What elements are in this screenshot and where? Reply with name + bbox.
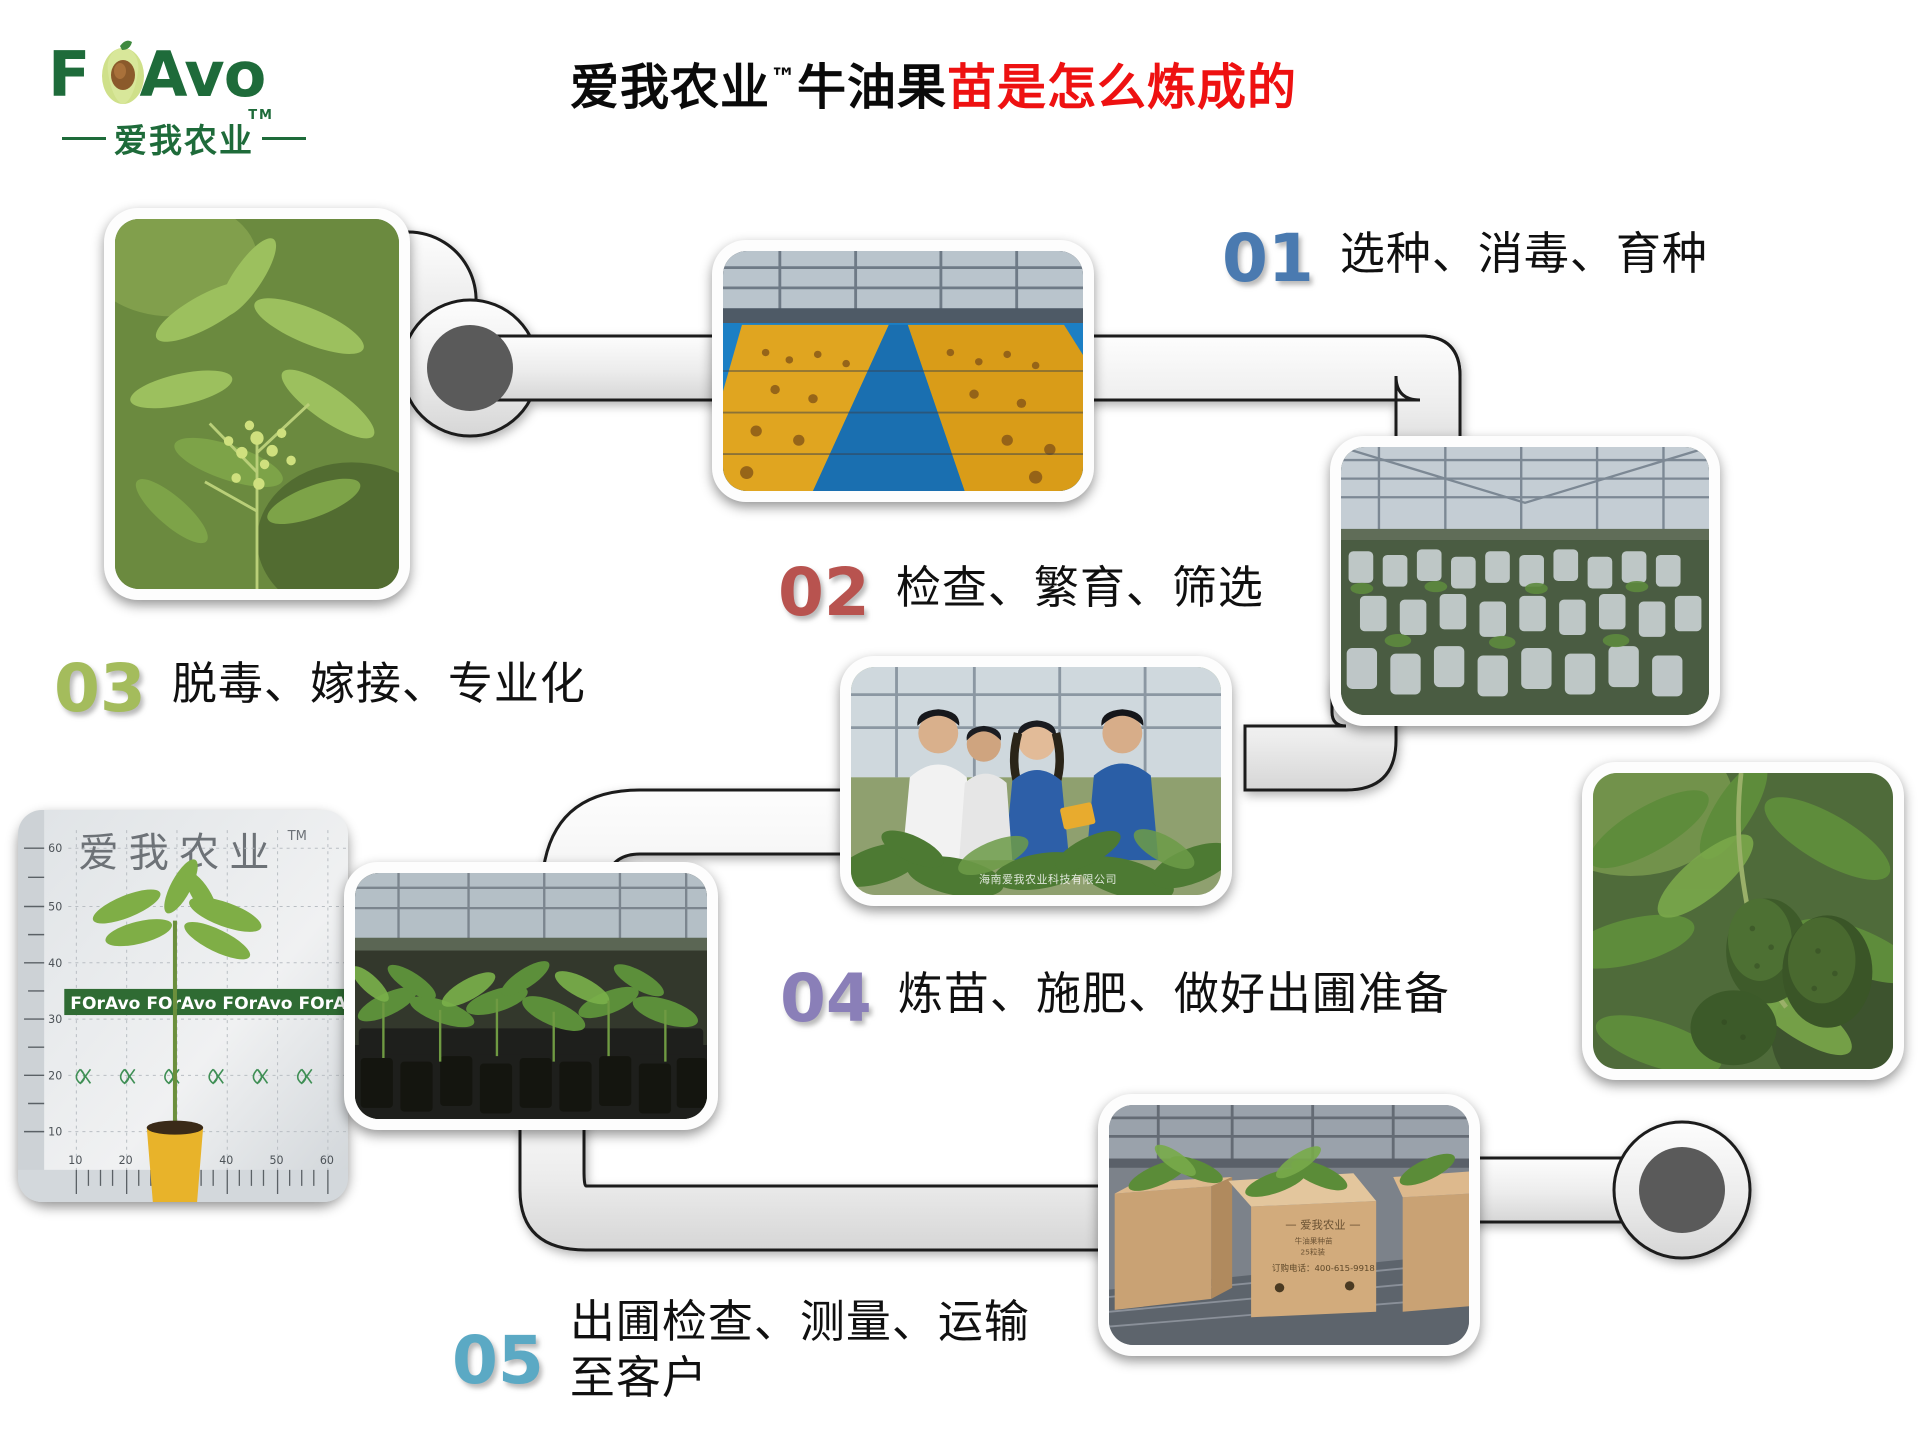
title-red: 苗是怎么炼成的 [947, 59, 1297, 116]
photo-staff-inspection: 海南爱我农业科技有限公司 [840, 656, 1232, 906]
photo-measurement-board-image: 爱我农业 TM 605040 302010 [18, 810, 348, 1202]
step-text-03: 脱毒、嫁接、专业化 [172, 656, 586, 712]
logo-chinese-row: 爱我农业 TM [48, 114, 338, 162]
brand-logo: F rAvo 爱我农业 TM [48, 38, 338, 158]
step-number-05: 05 [452, 1328, 544, 1394]
svg-text:10: 10 [68, 1154, 82, 1167]
photo-seed-trays-image [723, 251, 1083, 491]
svg-text:50: 50 [48, 901, 62, 914]
photo-staff-inspection-image: 海南爱我农业科技有限公司 [851, 667, 1221, 895]
step-text-05: 出圃检查、测量、运输 至客户 [570, 1294, 1030, 1406]
svg-text:牛油果种苗: 牛油果种苗 [1295, 1236, 1333, 1246]
title-black-1: 爱我农业 [570, 59, 770, 116]
logo-trademark-mark: TM [248, 108, 274, 123]
photo-bagged-grafts [1330, 436, 1720, 726]
svg-text:60: 60 [48, 842, 62, 855]
svg-text:25粒装: 25粒装 [1300, 1247, 1325, 1257]
step-number-01: 01 [1222, 226, 1314, 292]
photo-potted-rows-image [355, 873, 707, 1119]
photo-measurement-board: 爱我农业 TM 605040 302010 [18, 810, 348, 1202]
svg-text:10: 10 [48, 1126, 62, 1139]
step-text-04: 炼苗、施肥、做好出圃准备 [898, 966, 1450, 1022]
logo-dash-right [262, 137, 306, 140]
logo-wordmark: F rAvo [48, 38, 318, 112]
photo-avocado-flowers [104, 208, 410, 600]
title-black-2: 牛油果 [797, 59, 947, 116]
step-number-04: 04 [780, 966, 872, 1032]
step-label-01: 01 选种、消毒、育种 [1222, 226, 1708, 292]
photo-shipping-boxes: — 爱我农业 — 牛油果种苗 25粒装 订购电话：400-615-9918 [1098, 1094, 1480, 1356]
svg-text:60: 60 [320, 1154, 334, 1167]
page-title: 爱我农业™牛油果苗是怎么炼成的 [570, 48, 1630, 118]
title-tm: ™ [770, 64, 797, 94]
svg-text:40: 40 [219, 1154, 233, 1167]
logo-wordmark-text: F rAvo [48, 38, 265, 111]
svg-text:40: 40 [48, 957, 62, 970]
step-label-05: 05 出圃检查、测量、运输 至客户 [452, 1294, 1030, 1406]
photo-bagged-grafts-image [1341, 447, 1709, 715]
logo-chinese-text: 爱我农业 [114, 121, 254, 160]
svg-text:50: 50 [270, 1154, 284, 1167]
photo-seed-trays [712, 240, 1094, 502]
svg-text:爱我农业: 爱我农业 [78, 830, 279, 876]
step-label-04: 04 炼苗、施肥、做好出圃准备 [780, 966, 1450, 1032]
svg-text:20: 20 [48, 1069, 62, 1082]
svg-text:20: 20 [119, 1154, 133, 1167]
photo-avocado-flowers-image [115, 219, 399, 589]
step-label-03: 03 脱毒、嫁接、专业化 [54, 656, 586, 722]
logo-chinese-name: 爱我农业 TM [114, 114, 254, 162]
svg-text:— 爱我农业 —: — 爱我农业 — [1285, 1218, 1360, 1232]
svg-text:30: 30 [48, 1013, 62, 1026]
photo-potted-rows [344, 862, 718, 1130]
photo-watermark: 海南爱我农业科技有限公司 [979, 871, 1117, 887]
svg-text:订购电话：400-615-9918: 订购电话：400-615-9918 [1272, 1263, 1375, 1273]
step-number-03: 03 [54, 656, 146, 722]
photo-avocado-fruit-tree [1582, 762, 1904, 1080]
infographic-canvas: F rAvo 爱我农业 TM 爱我农业™牛油果苗是怎么炼成的 [0, 0, 1920, 1440]
step-text-01: 选种、消毒、育种 [1340, 226, 1708, 282]
step-label-02: 02 检查、繁育、筛选 [778, 560, 1264, 626]
step-text-02: 检查、繁育、筛选 [896, 560, 1264, 616]
svg-text:FOrAvo FOrAvo FOrAvo FOrA: FOrAvo FOrAvo FOrAvo FOrA [70, 994, 347, 1014]
photo-shipping-boxes-image: — 爱我农业 — 牛油果种苗 25粒装 订购电话：400-615-9918 [1109, 1105, 1469, 1345]
step-number-02: 02 [778, 560, 870, 626]
logo-dash-left [62, 137, 106, 140]
avocado-icon [100, 34, 146, 108]
photo-avocado-fruit-tree-image [1593, 773, 1893, 1069]
svg-text:TM: TM [287, 829, 307, 844]
